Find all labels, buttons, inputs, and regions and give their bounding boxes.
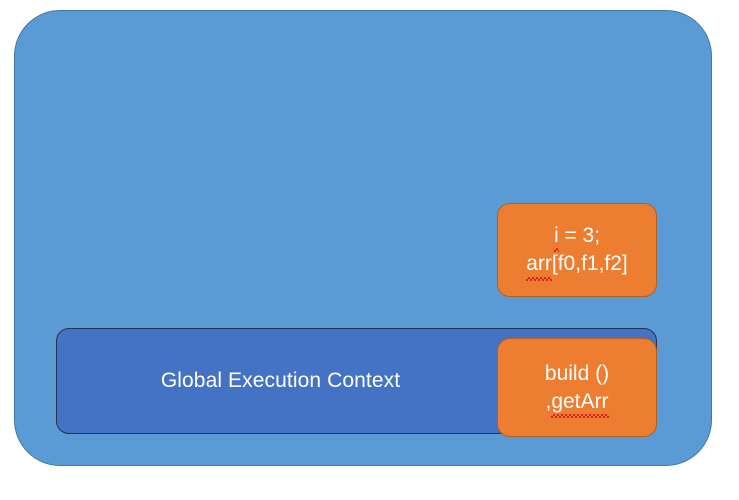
variables-misspelled-arr: arr <box>526 250 552 278</box>
outer-container-box: i = 3; arr[f0,f1,f2] Global Execution Co… <box>14 10 712 466</box>
variables-line-1-rest: = 3; <box>559 224 600 247</box>
variables-card-line-2: arr[f0,f1,f2] <box>526 250 628 278</box>
diagram-canvas: i = 3; arr[f0,f1,f2] Global Execution Co… <box>0 0 739 500</box>
functions-line-1-rest: build () <box>545 362 609 385</box>
variables-line-2-rest: [f0,f1,f2] <box>552 252 628 275</box>
functions-misspelled-getarr: getArr <box>551 388 608 416</box>
variables-card: i = 3; arr[f0,f1,f2] <box>497 203 657 297</box>
functions-card-line-1: build () <box>545 360 609 388</box>
global-execution-context-label: Global Execution Context <box>161 368 400 393</box>
functions-card-line-2: ,getArr <box>545 388 608 416</box>
functions-card: build () ,getArr <box>497 338 657 437</box>
variables-misspelled-i: i <box>554 222 559 250</box>
variables-card-line-1: i = 3; <box>554 222 600 250</box>
